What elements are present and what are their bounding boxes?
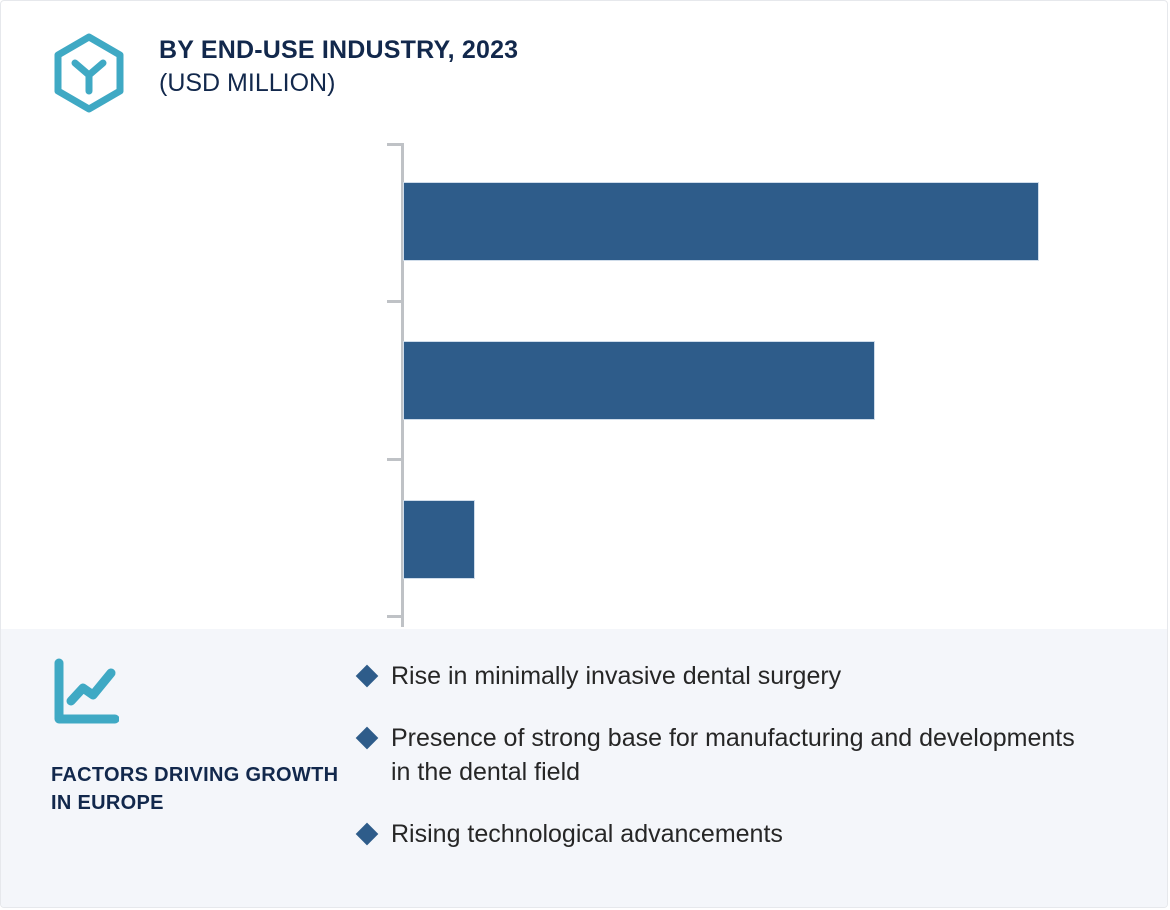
line-chart-icon [51, 657, 119, 727]
list-item-label: Rising technological advancements [391, 817, 783, 851]
list-item: Rise in minimally invasive dental surger… [359, 659, 1129, 693]
bar-dental-clinics[interactable] [403, 341, 875, 420]
hexagon-y-icon [51, 33, 127, 113]
factors-panel-heading: FACTORS DRIVING GROWTH IN EUROPE [51, 761, 341, 818]
factors-panel: FACTORS DRIVING GROWTH IN EUROPE Rise in… [1, 629, 1168, 908]
page-subtitle: (USD MILLION) [159, 68, 518, 99]
bar-others[interactable] [403, 500, 475, 579]
factors-bullet-list: Rise in minimally invasive dental surger… [359, 659, 1129, 851]
axis-tick [387, 615, 404, 618]
list-item-label: Rise in minimally invasive dental surger… [391, 659, 841, 693]
diamond-bullet-icon [356, 823, 379, 846]
list-item-label: Presence of strong base for manufacturin… [391, 721, 1091, 789]
page-title: BY END-USE INDUSTRY, 2023 [159, 35, 518, 66]
diamond-bullet-icon [356, 665, 379, 688]
list-item: Presence of strong base for manufacturin… [359, 721, 1129, 789]
axis-tick [387, 458, 404, 461]
info-card: BY END-USE INDUSTRY, 2023 (USD MILLION) … [0, 0, 1168, 908]
factors-panel-left: FACTORS DRIVING GROWTH IN EUROPE [51, 657, 341, 818]
bar-hospitals[interactable] [403, 182, 1039, 261]
bar-chart: Hospitals Dental Clinics Others [1, 131, 1168, 626]
card-header: BY END-USE INDUSTRY, 2023 (USD MILLION) [51, 29, 518, 113]
header-text-block: BY END-USE INDUSTRY, 2023 (USD MILLION) [159, 35, 518, 99]
axis-tick [387, 143, 404, 146]
diamond-bullet-icon [356, 727, 379, 750]
list-item: Rising technological advancements [359, 817, 1129, 851]
axis-tick [387, 300, 404, 303]
